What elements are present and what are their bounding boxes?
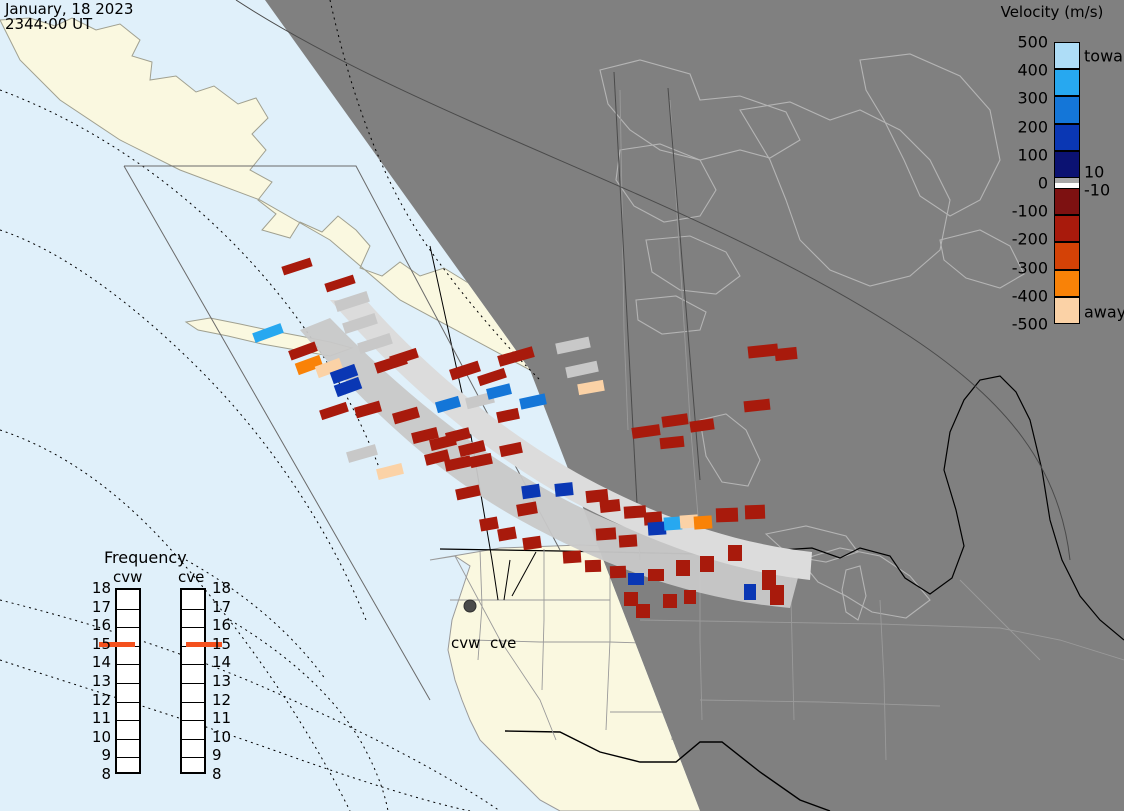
colorbar-band-2[interactable] (1054, 96, 1080, 123)
frequency-gauge-title-cvw: cvw (113, 568, 142, 586)
gauge-label-cvw-12: 12 (85, 691, 111, 709)
colorbar-band-8[interactable] (1054, 270, 1080, 297)
gauge-label-cvw-15: 15 (85, 635, 111, 653)
colorbar-tick-200: 200 (1017, 117, 1048, 136)
gauge-tick (117, 683, 139, 684)
gauge-label-cve-14: 14 (212, 653, 231, 671)
gauge-label-cve-13: 13 (212, 672, 231, 690)
gauge-label-cve-17: 17 (212, 598, 231, 616)
velocity-cell[interactable] (636, 604, 650, 618)
radar-site-dot[interactable] (464, 600, 476, 612)
colorbar-tick-neg100: -100 (1012, 202, 1048, 221)
gauge-label-cve-9: 9 (212, 746, 222, 764)
frequency-gauge-title-cve: cve (178, 568, 204, 586)
gauge-label-cvw-18: 18 (85, 579, 111, 597)
velocity-cell[interactable] (596, 527, 617, 540)
colorbar-band-5[interactable] (1054, 188, 1080, 215)
gauge-tick (117, 739, 139, 740)
gauge-label-cvw-10: 10 (85, 728, 111, 746)
colorbar-tick-neg300: -300 (1012, 258, 1048, 277)
velocity-cell[interactable] (628, 573, 644, 585)
colorbar-minus10-label: -10 (1084, 181, 1110, 200)
velocity-cell[interactable] (554, 482, 573, 497)
gauge-tick (117, 720, 139, 721)
gauge-tick (117, 702, 139, 703)
gauge-label-cvw-17: 17 (85, 598, 111, 616)
velocity-cell[interactable] (774, 347, 797, 361)
colorbar-tick-labels: 5004003002001000-100-200-300-400-500 (990, 0, 1048, 811)
velocity-cell[interactable] (728, 545, 742, 561)
gauge-label-cvw-13: 13 (85, 672, 111, 690)
gauge-tick (182, 627, 204, 628)
gauge-label-cve-8: 8 (212, 765, 222, 783)
velocity-cell[interactable] (716, 508, 738, 523)
colorbar-band-7[interactable] (1054, 242, 1080, 269)
velocity-colorbar[interactable] (1054, 42, 1080, 324)
colorbar-tick-0: 0 (1038, 174, 1048, 193)
velocity-cell[interactable] (624, 505, 647, 519)
gauge-tick (182, 739, 204, 740)
gauge-label-cve-15: 15 (212, 635, 231, 653)
colorbar-band-3[interactable] (1054, 124, 1080, 151)
velocity-cell[interactable] (624, 592, 638, 606)
colorbar-band-0[interactable] (1054, 42, 1080, 69)
colorbar-plus10-label: 10 (1084, 163, 1104, 182)
velocity-cell[interactable] (610, 566, 626, 579)
colorbar-tick-neg500: -500 (1012, 315, 1048, 334)
velocity-cell[interactable] (648, 569, 664, 581)
velocity-cell[interactable] (744, 584, 756, 600)
gauge-tick (117, 757, 139, 758)
colorbar-band-6[interactable] (1054, 215, 1080, 242)
gauge-label-cve-18: 18 (212, 579, 231, 597)
gauge-tick (182, 702, 204, 703)
gauge-label-cve-11: 11 (212, 709, 231, 727)
velocity-cell[interactable] (700, 556, 714, 572)
gauge-tick (117, 609, 139, 610)
colorbar-toward-label: toward (1084, 47, 1124, 66)
velocity-cell[interactable] (522, 536, 541, 550)
velocity-cell[interactable] (599, 499, 620, 513)
gauge-label-cvw-9: 9 (85, 746, 111, 764)
velocity-cell[interactable] (619, 534, 638, 547)
gauge-label-cvw-14: 14 (85, 653, 111, 671)
velocity-cell[interactable] (563, 550, 582, 563)
colorbar-band-4[interactable] (1054, 151, 1080, 178)
colorbar-tick-neg400: -400 (1012, 286, 1048, 305)
gauge-tick (182, 609, 204, 610)
gauge-label-cvw-8: 8 (85, 765, 111, 783)
frequency-gauge-cve[interactable] (180, 588, 206, 774)
colorbar-tick-neg200: -200 (1012, 230, 1048, 249)
site-label-cve: cve (490, 634, 516, 652)
colorbar-tick-400: 400 (1017, 61, 1048, 80)
velocity-cell[interactable] (663, 594, 677, 608)
timestamp-time: 2344:00 UT (5, 17, 92, 32)
frequency-panel-title: Frequency (104, 548, 187, 567)
gauge-label-cve-16: 16 (212, 616, 231, 634)
radar-map-canvas[interactable] (0, 0, 1124, 811)
gauge-tick (117, 627, 139, 628)
velocity-cell[interactable] (648, 521, 667, 535)
velocity-cell[interactable] (694, 515, 713, 529)
colorbar-tick-500: 500 (1017, 33, 1048, 52)
velocity-cell[interactable] (664, 516, 683, 530)
velocity-cell[interactable] (745, 505, 765, 520)
frequency-gauge-cvw[interactable] (115, 588, 141, 774)
colorbar-band-9[interactable] (1054, 297, 1080, 324)
gauge-tick (182, 720, 204, 721)
velocity-cell[interactable] (684, 590, 696, 604)
gauge-label-cve-10: 10 (212, 728, 231, 746)
gauge-tick (182, 757, 204, 758)
velocity-cell[interactable] (585, 560, 601, 573)
velocity-cell[interactable] (770, 585, 784, 605)
gauge-label-cve-12: 12 (212, 691, 231, 709)
colorbar-tick-100: 100 (1017, 145, 1048, 164)
velocity-cell[interactable] (521, 484, 541, 499)
gauge-tick (182, 683, 204, 684)
colorbar-band-1[interactable] (1054, 69, 1080, 96)
gauge-label-cvw-11: 11 (85, 709, 111, 727)
radar-map-window: January, 18 2023 2344:00 UT Velocity (m/… (0, 0, 1124, 811)
colorbar-away-label: away (1084, 303, 1124, 322)
gauge-label-cvw-16: 16 (85, 616, 111, 634)
velocity-cell[interactable] (676, 560, 690, 576)
site-label-cvw: cvw (451, 634, 480, 652)
gauge-tick (182, 664, 204, 665)
gauge-tick (117, 664, 139, 665)
colorbar-tick-300: 300 (1017, 89, 1048, 108)
